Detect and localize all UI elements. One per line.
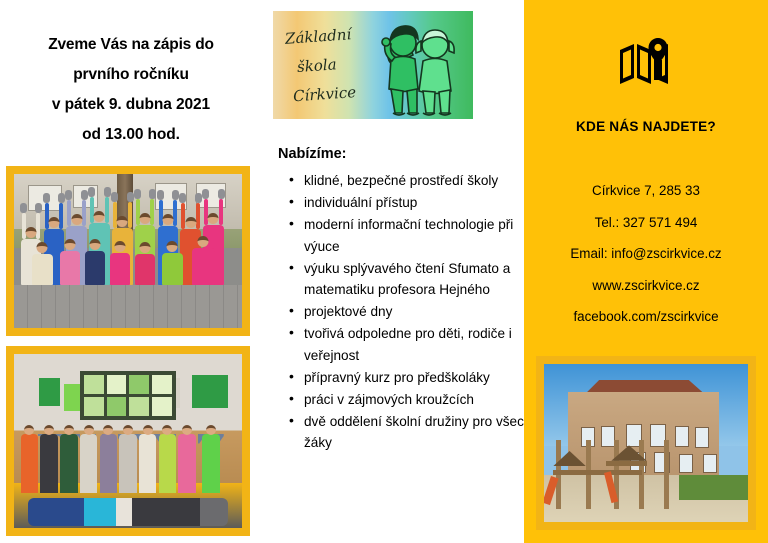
children-row: [19, 434, 238, 493]
list-item: individuální přístup: [304, 192, 546, 213]
list-item: dvě oddělení školní družiny pro všechny …: [304, 411, 546, 453]
two-children-illustration-icon: [373, 15, 469, 119]
email-line[interactable]: Email: info@zscirkvice.cz: [524, 238, 768, 270]
pavement: [14, 285, 242, 328]
school-logo: Základní škola Církvice: [273, 11, 473, 119]
photo-kids-classroom: [6, 346, 250, 536]
children-lying-on-floor: [28, 498, 229, 526]
kid: [119, 434, 137, 493]
kid: [162, 253, 183, 285]
invitation-heading: Zveme Vás na zápis do prvního ročníku v …: [6, 30, 256, 150]
contact-block: Církvice 7, 285 33 Tel.: 327 571 494 Ema…: [524, 175, 768, 333]
list-item: přípravný kurz pro předškoláky: [304, 367, 546, 388]
folded-map-with-pin-icon: [618, 38, 674, 88]
kid: [32, 254, 53, 285]
bulletin-board: [80, 371, 176, 420]
invitation-line-3: v pátek 9. dubna 2021: [6, 90, 256, 120]
list-item: projektové dny: [304, 301, 546, 322]
list-item: moderní informační technologie při výuce: [304, 214, 546, 256]
kid: [139, 434, 157, 493]
school-building-scene: [544, 364, 748, 522]
kid: [85, 251, 106, 285]
kid: [159, 434, 177, 493]
wooden-playground: [548, 440, 674, 510]
kid: [135, 254, 156, 285]
photo-kids-outdoor-image: [14, 174, 242, 328]
left-column: Zveme Vás na zápis do prvního ročníku v …: [0, 0, 262, 543]
classroom-scene: [14, 354, 242, 528]
kid: [100, 434, 118, 493]
address-line: Církvice 7, 285 33: [524, 175, 768, 207]
facebook-line[interactable]: facebook.com/zscirkvice: [524, 301, 768, 333]
kid: [21, 434, 39, 493]
kid: [60, 251, 81, 285]
grass: [679, 475, 748, 500]
phone-line: Tel.: 327 571 494: [524, 207, 768, 239]
kid: [192, 248, 215, 285]
offer-heading: Nabízíme:: [278, 146, 347, 162]
kid: [40, 434, 58, 493]
kid: [80, 434, 98, 493]
find-us-heading: KDE NÁS NAJDETE?: [524, 119, 768, 134]
photo-school-building-image: [544, 364, 748, 522]
offer-list: klidné, bezpečné prostředí školy individ…: [280, 170, 546, 455]
invitation-line-4: od 13.00 hod.: [6, 120, 256, 150]
list-item: tvořivá odpoledne pro děti, rodiče i veř…: [304, 323, 546, 365]
invitation-line-2: prvního ročníku: [6, 60, 256, 90]
list-item: výuku splývavého čtení Sfumato a matemat…: [304, 258, 546, 300]
kid: [202, 434, 220, 493]
outdoor-scene: [14, 174, 242, 328]
kid: [178, 434, 196, 493]
photo-kids-classroom-image: [14, 354, 242, 528]
photo-kids-outdoor: [6, 166, 250, 336]
list-item: práci v zájmových kroužcích: [304, 389, 546, 410]
website-line[interactable]: www.zscirkvice.cz: [524, 270, 768, 302]
photo-school-building: [536, 356, 756, 530]
invitation-line-1: Zveme Vás na zápis do: [6, 30, 256, 60]
kid: [60, 434, 78, 493]
kid: [110, 253, 131, 285]
middle-column: Základní škola Církvice: [262, 0, 524, 543]
list-item: klidné, bezpečné prostředí školy: [304, 170, 546, 191]
